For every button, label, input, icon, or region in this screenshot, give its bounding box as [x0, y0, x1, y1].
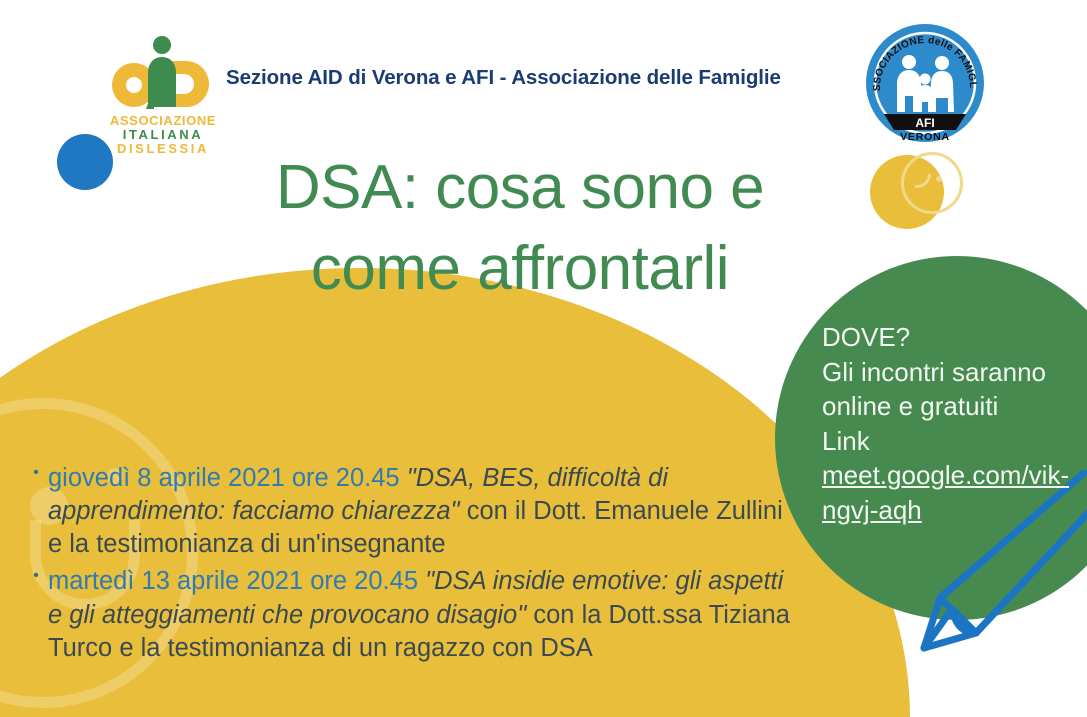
aid-logo-line1: ASSOCIAZIONE [110, 113, 216, 128]
gold-ring-dot-decoration [936, 176, 942, 182]
afi-logo-city: VERONA [900, 131, 950, 143]
page-title: DSA: cosa sono e come affrontarli [150, 148, 890, 309]
afi-logo-acronym: AFI [915, 116, 934, 130]
event-list: • giovedì 8 aprile 2021 ore 20.45 "DSA, … [24, 462, 804, 665]
where-line-2: online e gratuiti [822, 389, 1084, 424]
afi-logo: AFI VERONA ASSOCIAZIONE delle FAMIGLIE [864, 22, 986, 144]
where-panel: DOVE? Gli incontri saranno online e grat… [822, 320, 1084, 527]
event-text: martedì 13 aprile 2021 ore 20.45 "DSA in… [48, 565, 804, 664]
event-date: giovedì 8 aprile 2021 ore 20.45 [48, 464, 407, 492]
page-title-line-2: come affrontarli [150, 229, 890, 310]
event-text: giovedì 8 aprile 2021 ore 20.45 "DSA, BE… [48, 462, 804, 561]
meet-link[interactable]: meet.google.com/vik-ngvj-aqh [822, 458, 1084, 527]
list-item: • giovedì 8 aprile 2021 ore 20.45 "DSA, … [24, 462, 804, 561]
page-title-line-1: DSA: cosa sono e [150, 148, 890, 229]
organization-header: Sezione AID di Verona e AFI - Associazio… [226, 66, 781, 90]
bullet-icon: • [24, 462, 48, 473]
aid-logo: ASSOCIAZIONE ITALIANA DISLESSIA [104, 33, 222, 153]
event-date: martedì 13 aprile 2021 ore 20.45 [48, 567, 425, 595]
where-link-label: Link [822, 424, 1084, 459]
gold-ring-decoration [901, 152, 963, 214]
poster-canvas: ASSOCIAZIONE ITALIANA DISLESSIA AFI VERO… [0, 0, 1087, 717]
where-line-1: Gli incontri saranno [822, 355, 1084, 390]
where-heading: DOVE? [822, 320, 1084, 355]
aid-logo-line2: ITALIANA [123, 127, 204, 142]
bullet-icon: • [24, 565, 48, 576]
list-item: • martedì 13 aprile 2021 ore 20.45 "DSA … [24, 565, 804, 664]
